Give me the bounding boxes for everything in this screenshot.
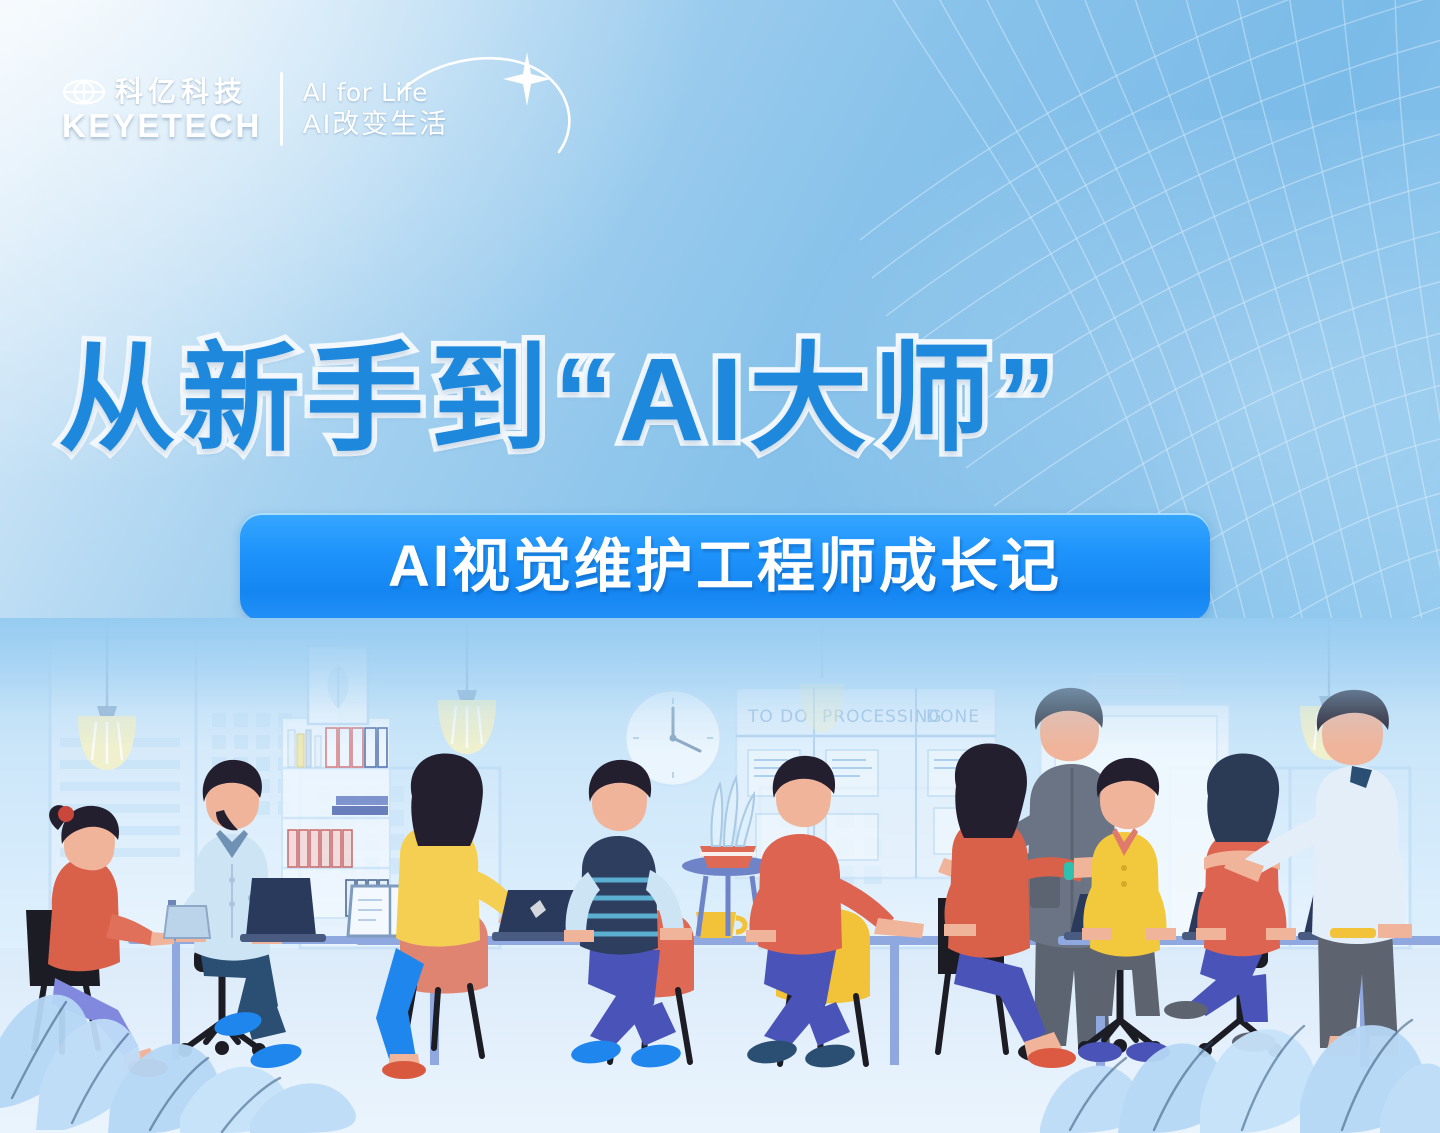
brand-logo[interactable]: 科亿科技 KEYETECH AI for Life AI改变生活 <box>62 72 518 146</box>
banner-body: AI视觉维护工程师成长记 <box>240 513 1210 621</box>
office-illustration-svg: TO DO PROCESSING DONE <box>0 618 1440 1133</box>
brand-logo-row-cn: 科亿科技 <box>62 77 262 107</box>
brand-name-en: KEYETECH <box>62 109 262 142</box>
page-title: 从新手到“AI大师” <box>58 334 1062 466</box>
brand-slogan-group: AI for Life AI改变生活 <box>303 80 519 138</box>
brand-logo-left: 科亿科技 KEYETECH <box>62 77 262 142</box>
eye-icon <box>62 77 106 107</box>
laptop-left-2 <box>164 906 210 938</box>
brand-name-cn: 科亿科技 <box>115 78 247 106</box>
subtitle-banner: AI视觉维护工程师成长记 <box>240 513 1210 621</box>
poster-canvas: 科亿科技 KEYETECH AI for Life AI改变生活 从新手到“AI… <box>0 0 1440 1133</box>
sparkle-swoosh-icon <box>391 48 611 168</box>
logo-divider <box>280 72 283 146</box>
subtitle-text: AI视觉维护工程师成长记 <box>388 538 1062 596</box>
office-illustration: TO DO PROCESSING DONE <box>0 618 1440 1133</box>
svg-text:TO DO: TO DO <box>747 707 809 727</box>
svg-text:DONE: DONE <box>926 707 980 727</box>
